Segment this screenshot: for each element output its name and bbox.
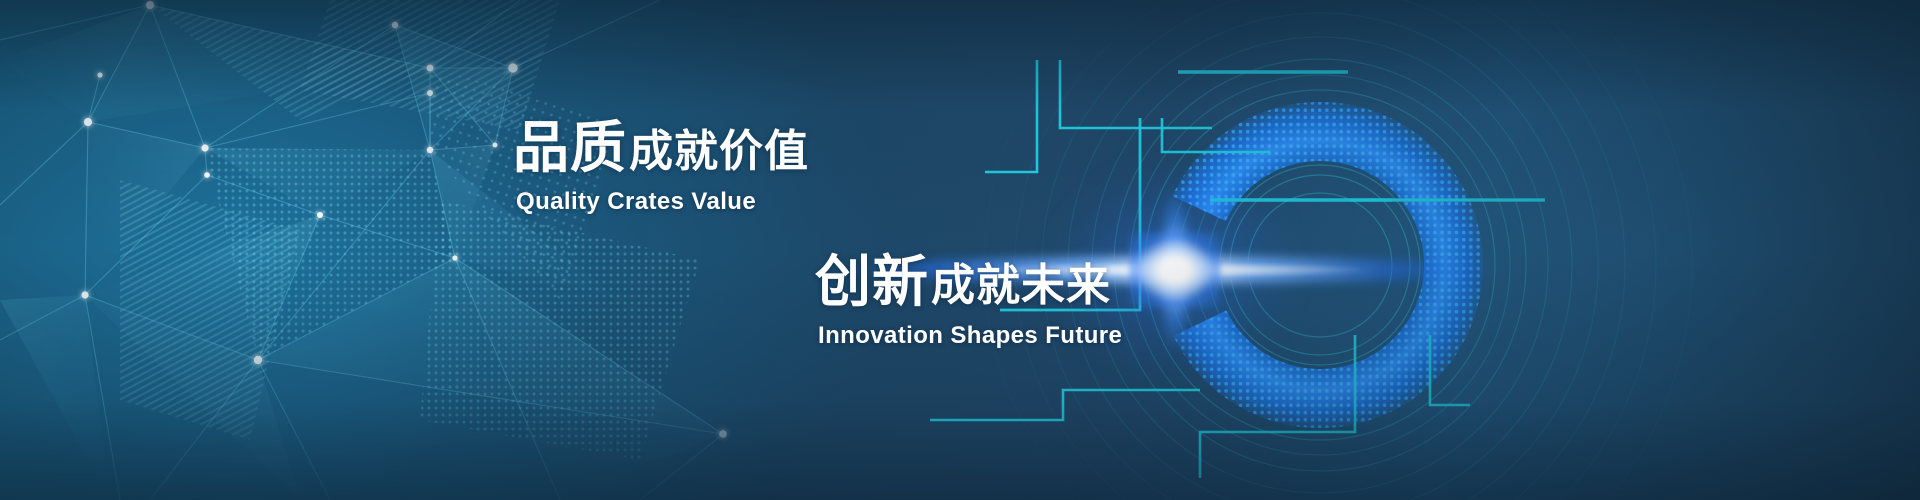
subtitle-innovation: Innovation Shapes Future xyxy=(818,322,1122,350)
headline-rest-innovation: 成就未来 xyxy=(931,264,1111,308)
slogan-innovation: 创新 成就未来 Innovation Shapes Future xyxy=(815,254,1122,350)
headline-strong-innovation: 创新 xyxy=(815,254,929,310)
slogan-quality: 品质 成就价值 Quality Crates Value xyxy=(513,120,809,216)
tech-banner: 品质 成就价值 Quality Crates Value 创新 成就未来 Inn… xyxy=(0,0,1920,500)
headline-rest-quality: 成就价值 xyxy=(629,130,809,174)
headline-row-quality: 品质 成就价值 xyxy=(513,120,809,176)
vignette-overlay xyxy=(0,0,1920,500)
headline-strong-quality: 品质 xyxy=(513,120,627,176)
subtitle-quality: Quality Crates Value xyxy=(516,188,809,216)
headline-row-innovation: 创新 成就未来 xyxy=(815,254,1122,310)
